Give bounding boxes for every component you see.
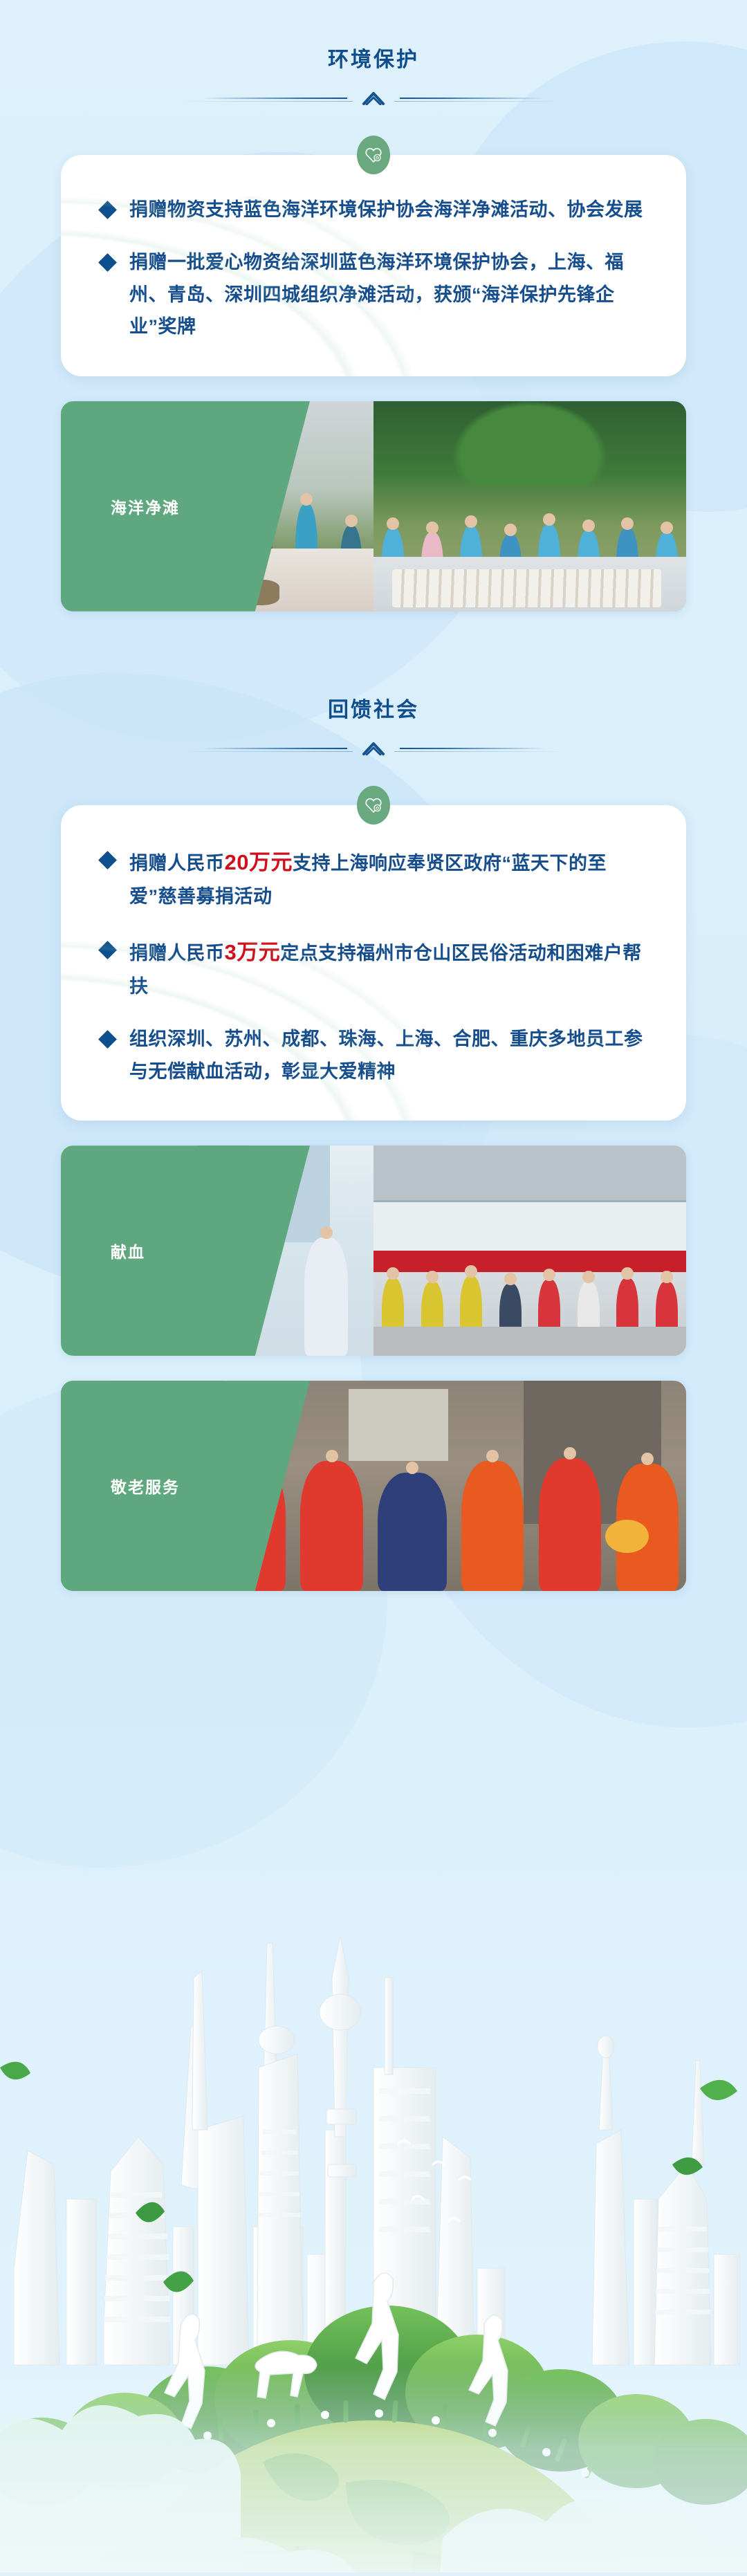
photo-beach-cleanup-b [373, 401, 686, 611]
bullet-item: 捐赠物资支持蓝色海洋环境保护协会海洋净滩活动、协会发展 [91, 194, 647, 226]
divider-line-left [202, 748, 347, 749]
diamond-bullet-icon [98, 1030, 117, 1049]
bullet-highlight-amount: 3万元 [225, 940, 281, 964]
bullet-text: 组织深圳、苏州、成都、珠海、上海、合肥、重庆多地员工参与无偿献血活动，彰显大爱精… [129, 1023, 647, 1087]
chevron-up-icon [362, 90, 385, 105]
bullet-highlight-amount: 20万元 [225, 850, 293, 874]
divider-line-outer-right [394, 101, 567, 102]
photo-strip-elderly-care: 敬老服务 [61, 1381, 686, 1591]
bullet-text-prefix: 捐赠一批爱心物资给深圳蓝色海洋环境保护协会，上海、福州、青岛、深圳四城组织净滩活… [129, 252, 624, 337]
photo-strip-label-text: 敬老服务 [111, 1474, 180, 1498]
divider-line-left [202, 98, 347, 99]
photo-strip-blood-donation: 献血 [61, 1146, 686, 1356]
photo-blood-donation-b [373, 1146, 686, 1356]
content-card-social: 捐赠人民币20万元支持上海响应奉贤区政府“蓝天下的至爱”慈善募捐活动 捐赠人民币… [61, 805, 686, 1121]
content-card-environment: 捐赠物资支持蓝色海洋环境保护协会海洋净滩活动、协会发展 捐赠一批爱心物资给深圳蓝… [61, 155, 686, 376]
section-divider [180, 739, 567, 757]
bullet-item: 组织深圳、苏州、成都、珠海、上海、合肥、重庆多地员工参与无偿献血活动，彰显大爱精… [91, 1023, 647, 1087]
bullet-text-prefix: 组织深圳、苏州、成都、珠海、上海、合肥、重庆多地员工参与无偿献血活动，彰显大爱精… [129, 1029, 643, 1081]
section-divider [180, 89, 567, 107]
diamond-bullet-icon [98, 851, 117, 870]
section-title: 环境保护 [0, 50, 747, 71]
bullet-text-prefix: 捐赠人民币 [129, 853, 225, 874]
bullet-item: 捐赠人民币20万元支持上海响应奉贤区政府“蓝天下的至爱”慈善募捐活动 [91, 844, 647, 913]
bullet-item: 捐赠人民币3万元定点支持福州市仓山区民俗活动和困难户帮扶 [91, 934, 647, 1003]
bullet-text: 捐赠物资支持蓝色海洋环境保护协会海洋净滩活动、协会发展 [129, 194, 647, 226]
diamond-bullet-icon [98, 254, 117, 273]
section-title: 回馈社会 [0, 700, 747, 721]
bullet-text-prefix: 捐赠物资支持蓝色海洋环境保护协会海洋净滩活动、协会发展 [129, 199, 643, 220]
chevron-up-icon [362, 740, 385, 755]
diamond-bullet-icon [98, 941, 117, 959]
bullet-text: 捐赠人民币20万元支持上海响应奉贤区政府“蓝天下的至爱”慈善募捐活动 [129, 844, 647, 913]
papercut-city-globe-illustration [0, 1839, 747, 2573]
section-social: 回馈社会 捐赠人民币20万元支持上海响应奉贤区政府“蓝天下的至爱”慈善募捐活动 [0, 611, 747, 1591]
divider-line-right [400, 98, 545, 99]
divider-line-outer-right [394, 751, 567, 752]
heart-hands-icon [357, 786, 390, 825]
bullet-item: 捐赠一批爱心物资给深圳蓝色海洋环境保护协会，上海、福州、青岛、深圳四城组织净滩活… [91, 246, 647, 342]
divider-line-outer-left [180, 101, 353, 102]
divider-line-outer-left [180, 751, 353, 752]
photo-strip-label-text: 献血 [111, 1239, 145, 1262]
heart-hands-icon [357, 136, 390, 174]
divider-line-right [400, 748, 545, 749]
photo-strip-label-text: 海洋净滩 [111, 495, 180, 518]
section-environment: 环境保护 捐赠物资支持蓝色海洋环境保护协会海洋净滩活动、协会发展 [0, 0, 747, 611]
bullet-text: 捐赠一批爱心物资给深圳蓝色海洋环境保护协会，上海、福州、青岛、深圳四城组织净滩活… [129, 246, 647, 342]
bullet-text: 捐赠人民币3万元定点支持福州市仓山区民俗活动和困难户帮扶 [129, 934, 647, 1003]
bullet-text-prefix: 捐赠人民币 [129, 943, 225, 964]
diamond-bullet-icon [98, 201, 117, 219]
photo-strip-beach-cleanup: 海洋净滩 [61, 401, 686, 611]
